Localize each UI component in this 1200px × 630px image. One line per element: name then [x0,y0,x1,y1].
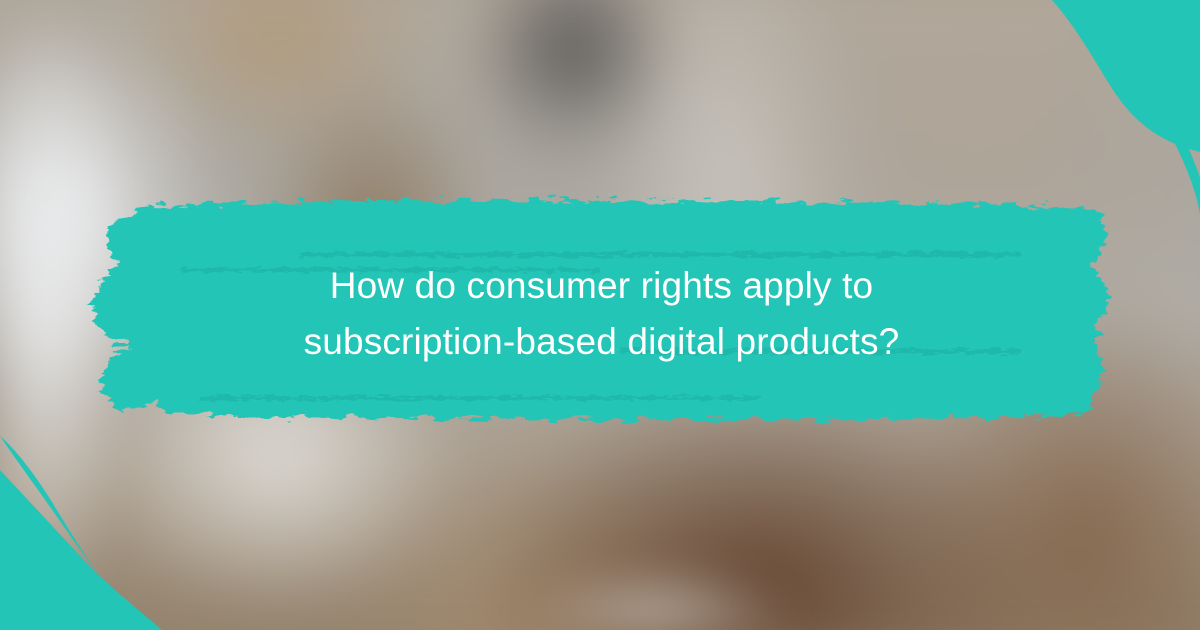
headline: How do consumer rights apply to subscrip… [150,258,1053,370]
headline-line-2: subscription-based digital products? [150,314,1053,370]
headline-line-1: How do consumer rights apply to [150,258,1053,314]
share-card: How do consumer rights apply to subscrip… [0,0,1200,630]
